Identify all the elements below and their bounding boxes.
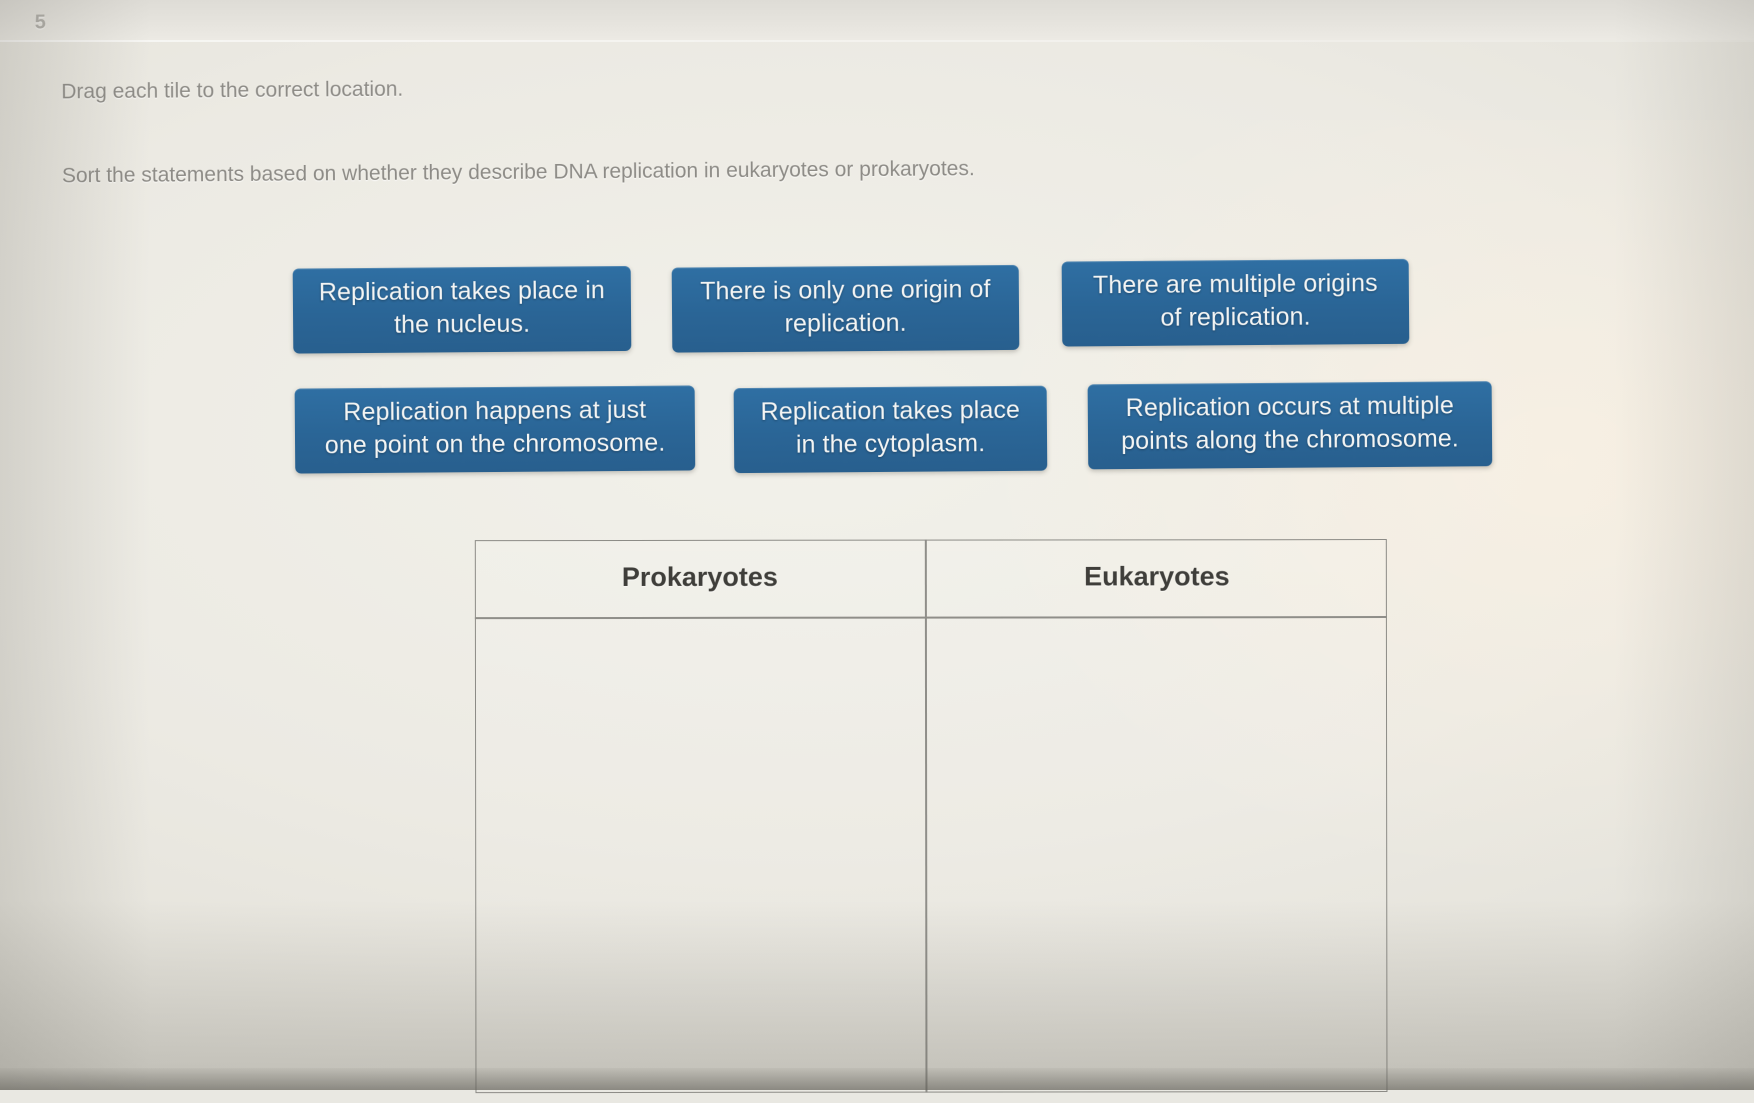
tile-text-line-1: Replication takes place [744,394,1037,430]
table-header-eukaryotes: Eukaryotes [927,561,1387,593]
tile-text-line-2: replication. [682,306,1009,342]
table-header-prokaryotes: Prokaryotes [475,562,925,594]
draggable-tile[interactable]: Replication takes place in the cytoplasm… [734,386,1048,473]
tile-text-line-2: one point on the chromosome. [305,427,685,463]
activity-content: 5 Drag each tile to the correct location… [0,0,1754,1097]
tile-text-line-2: in the cytoplasm. [744,427,1037,463]
drop-zone-eukaryotes[interactable] [928,618,1386,1091]
tile-text-line-1: Replication occurs at multiple [1098,389,1482,425]
draggable-tile[interactable]: There is only one origin of replication. [672,265,1020,352]
question-number: 5 [35,12,47,35]
tile-text-line-1: Replication happens at just [305,394,685,430]
tile-text-line-1: Replication takes place in [303,274,621,310]
tile-text-line-1: There is only one origin of [682,273,1009,309]
draggable-tile[interactable]: Replication occurs at multiple points al… [1088,381,1493,469]
tile-text-line-1: There are multiple origins [1072,267,1399,303]
draggable-tile[interactable]: Replication takes place in the nucleus. [293,266,632,353]
instruction-line-2: Sort the statements based on whether the… [62,157,975,188]
drop-zone-prokaryotes[interactable] [477,619,925,1092]
tile-text-line-2: the nucleus. [303,307,621,343]
draggable-tile[interactable]: There are multiple origins of replicatio… [1062,259,1410,346]
photo-bottom-shadow [0,1068,1754,1090]
sorting-table: Prokaryotes Eukaryotes [475,539,1388,1093]
draggable-tile[interactable]: Replication happens at just one point on… [295,385,696,473]
instruction-line-1: Drag each tile to the correct location. [61,78,403,105]
tile-text-line-2: points along the chromosome. [1098,422,1482,458]
tile-text-line-2: of replication. [1072,300,1399,336]
